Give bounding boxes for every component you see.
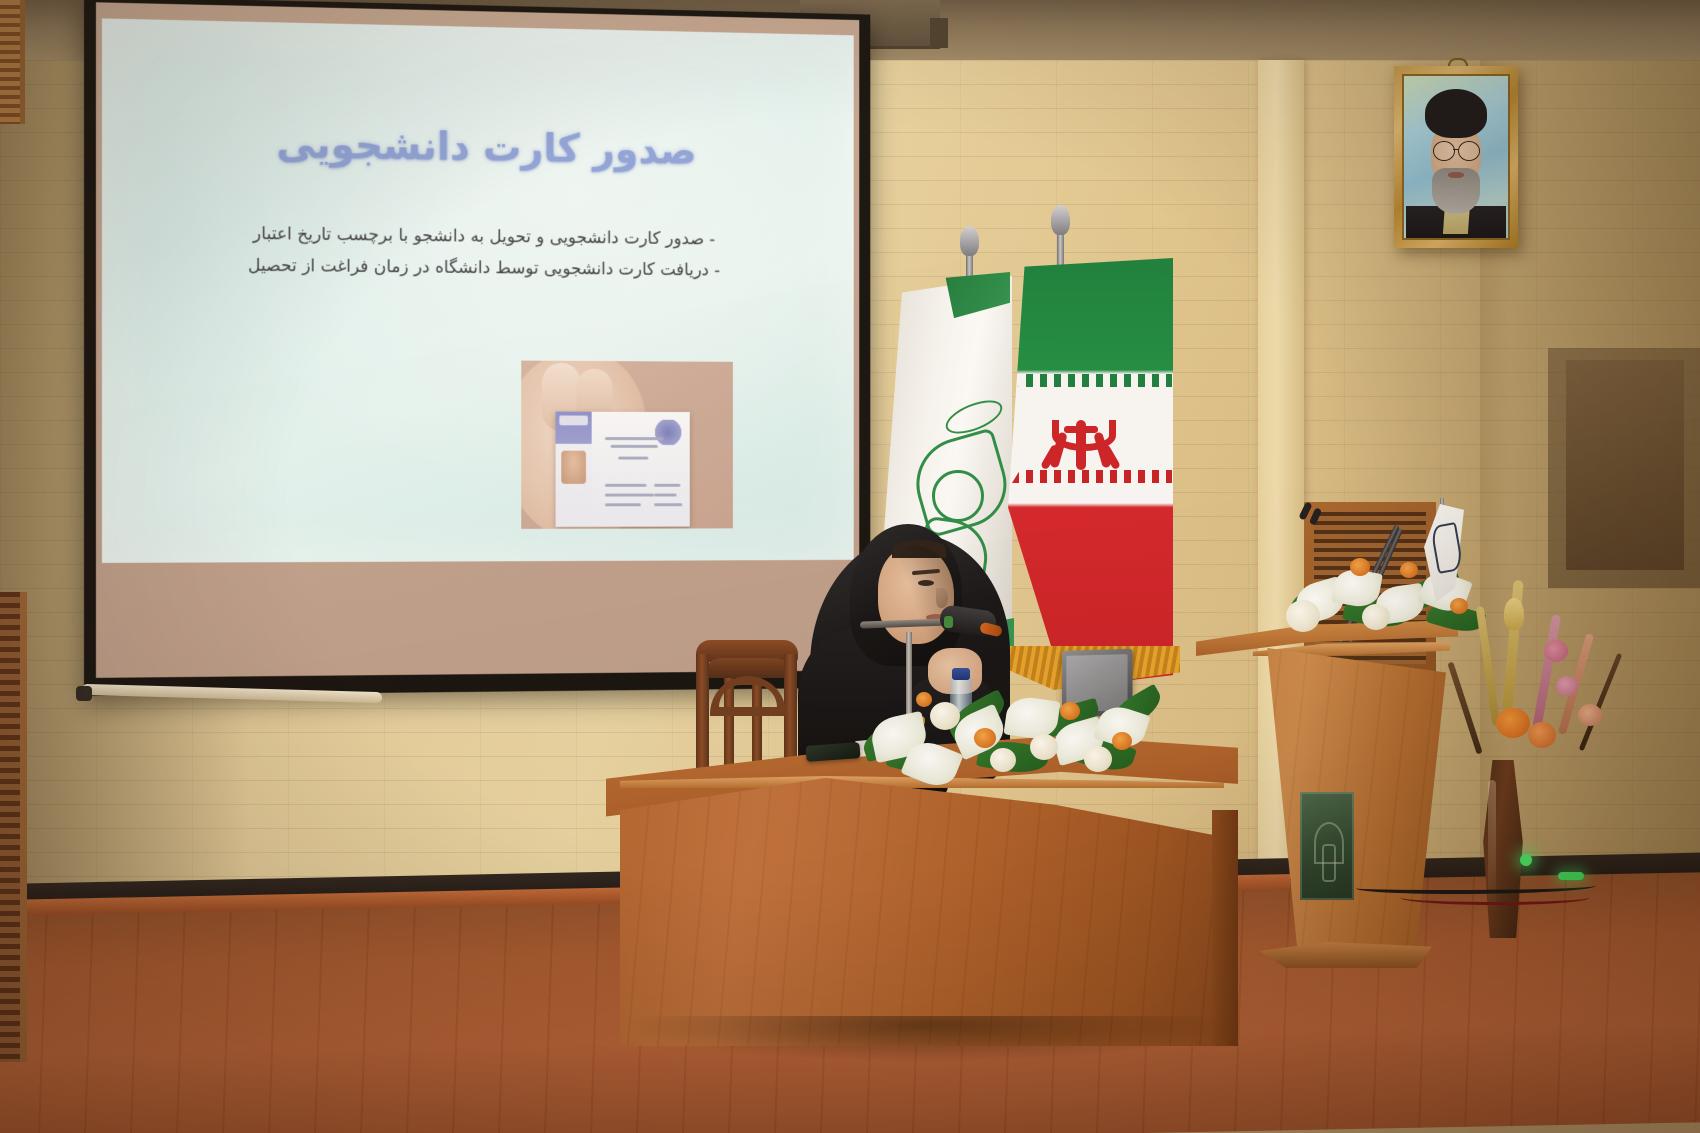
id-card-logo bbox=[559, 416, 588, 426]
orange-flower bbox=[974, 728, 996, 748]
orange-flower bbox=[1112, 732, 1132, 750]
projector-glow bbox=[102, 18, 854, 563]
dried-flower-arrangement bbox=[1432, 580, 1632, 790]
screen-roller-cap bbox=[76, 686, 92, 701]
chair-arch bbox=[710, 676, 786, 716]
screen-mount-arm bbox=[930, 18, 948, 48]
speaker-nose bbox=[936, 588, 948, 608]
dried-branch bbox=[1447, 661, 1482, 754]
podium bbox=[1196, 620, 1458, 966]
framed-portrait bbox=[1394, 66, 1518, 248]
id-card-text-line bbox=[654, 503, 682, 506]
plaque-ornament bbox=[1322, 844, 1336, 882]
iran-flag-emblem bbox=[1052, 420, 1110, 474]
emblem-crossbar bbox=[1064, 426, 1098, 433]
id-card-emblem bbox=[654, 420, 682, 445]
id-card-text-line bbox=[654, 484, 680, 487]
iran-flag-kufic-top bbox=[1012, 374, 1172, 387]
flag-pole-finial bbox=[960, 226, 979, 256]
id-card-left-panel bbox=[556, 412, 592, 527]
id-card-text-line bbox=[611, 445, 658, 448]
id-card-text-line bbox=[605, 494, 654, 497]
id-card-text-line bbox=[605, 484, 647, 487]
dried-bloom bbox=[1578, 704, 1602, 726]
id-card-text-line bbox=[605, 503, 641, 506]
rose-flower bbox=[930, 702, 960, 730]
rose-flower bbox=[1362, 604, 1390, 630]
portrait-glasses-right bbox=[1458, 141, 1480, 161]
dried-stalk bbox=[1532, 614, 1561, 732]
wall-frame-edge bbox=[0, 0, 25, 124]
projected-slide: صدور کارت دانشجویی - صدور کارت دانشجویی … bbox=[102, 18, 854, 563]
portrait-glasses-bridge bbox=[1453, 149, 1458, 151]
rose-flower bbox=[1030, 734, 1058, 760]
portrait-mouth bbox=[1448, 172, 1465, 178]
rose-flower bbox=[1084, 746, 1112, 772]
dried-bloom bbox=[1556, 676, 1578, 696]
id-card-photo bbox=[561, 451, 586, 484]
equipment-led-strip bbox=[1558, 872, 1584, 880]
chair-backrest-inner bbox=[706, 658, 790, 678]
id-card-text-line bbox=[618, 457, 648, 460]
orange-flower bbox=[1350, 558, 1370, 576]
rose-flower bbox=[990, 748, 1016, 772]
dried-bloom bbox=[1528, 722, 1556, 748]
slide-bullets: - صدور کارت دانشجویی و تحویل به دانشجو ب… bbox=[146, 217, 817, 288]
dried-bloom bbox=[1544, 640, 1568, 662]
slide-photo-id-card bbox=[521, 361, 733, 529]
equipment-led-indicator bbox=[1520, 854, 1532, 866]
flag-pole-finial bbox=[1051, 205, 1070, 235]
floor-cable-red bbox=[1400, 890, 1590, 905]
acoustic-panel bbox=[0, 592, 27, 1062]
university-emblem-part bbox=[932, 470, 984, 522]
podium-base bbox=[1240, 942, 1432, 968]
orange-flower bbox=[1060, 702, 1080, 720]
orange-flower bbox=[1400, 562, 1418, 578]
slide-bullet-2: - دریافت کارت دانشجویی توسط دانشگاه در ز… bbox=[146, 249, 817, 288]
speaker-eye bbox=[918, 580, 934, 586]
projection-screen: صدور کارت دانشجویی - صدور کارت دانشجویی … bbox=[84, 0, 880, 702]
dried-bloom bbox=[1504, 598, 1524, 630]
student-id-card bbox=[556, 412, 690, 527]
desk-front-panel bbox=[620, 778, 1224, 1046]
id-card-text-line bbox=[605, 437, 664, 440]
dried-bloom bbox=[1496, 708, 1530, 738]
lecture-hall-photo: صدور کارت دانشجویی - صدور کارت دانشجویی … bbox=[0, 0, 1700, 1133]
dried-stalk bbox=[1476, 606, 1501, 726]
podium-plaque bbox=[1300, 792, 1354, 900]
portrait-inner bbox=[1402, 74, 1510, 240]
microphone-indicator bbox=[944, 616, 953, 628]
dried-branch bbox=[1579, 653, 1623, 751]
portrait-turban bbox=[1425, 89, 1487, 138]
desk-bouquet bbox=[858, 672, 1158, 800]
id-card-text-line bbox=[654, 494, 677, 497]
portrait-glasses-left bbox=[1433, 141, 1455, 161]
orange-flower bbox=[916, 692, 932, 707]
rose-flower bbox=[1286, 600, 1320, 632]
desk-shadow bbox=[626, 1016, 1226, 1062]
